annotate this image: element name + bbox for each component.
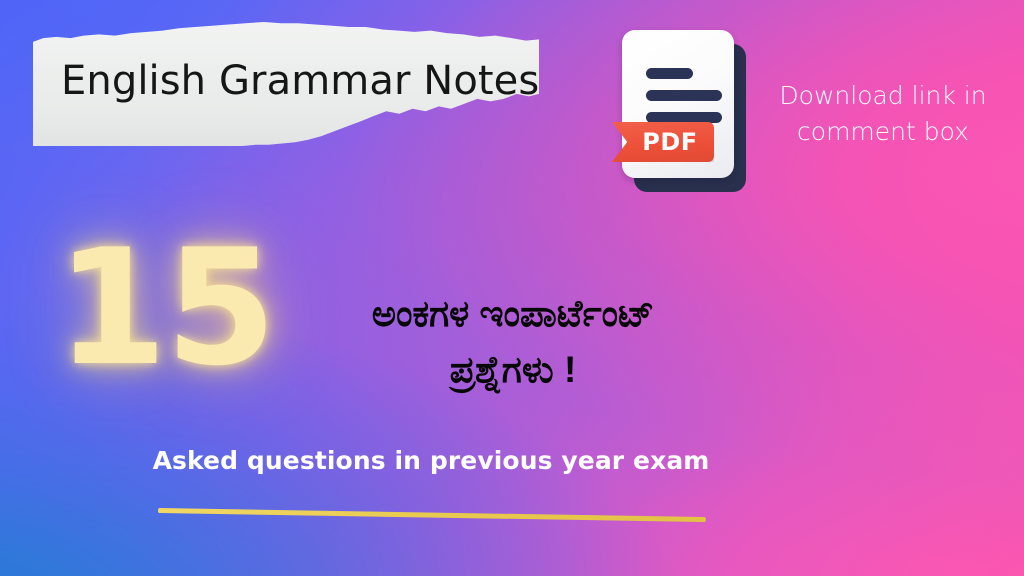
banner-title: English Grammar Notes <box>61 58 539 104</box>
kannada-headline-line-1: ಅಂಕಗಳ ಇಂಪಾರ್ಟೆಂಟ್ <box>278 286 748 342</box>
pdf-text-line-1 <box>646 68 693 79</box>
marks-count-number: 15 <box>56 228 275 388</box>
pdf-badge-label: PDF <box>612 122 714 162</box>
poster-canvas: English Grammar Notes PDF Download link … <box>0 0 1024 576</box>
subtitle-text: Asked questions in previous year exam <box>0 446 1024 475</box>
kannada-headline: ಅಂಕಗಳ ಇಂಪಾರ್ಟೆಂಟ್ ಪ್ರಶ್ನೆಗಳು ! <box>278 286 748 398</box>
kannada-headline-line-2: ಪ್ರಶ್ನೆಗಳು ! <box>278 342 748 398</box>
pdf-text-line-2 <box>646 90 722 101</box>
torn-paper-banner: English Grammar Notes <box>33 22 539 146</box>
pdf-document-icon[interactable]: PDF <box>612 26 756 194</box>
download-note-text: Download link in comment box <box>752 78 1014 149</box>
